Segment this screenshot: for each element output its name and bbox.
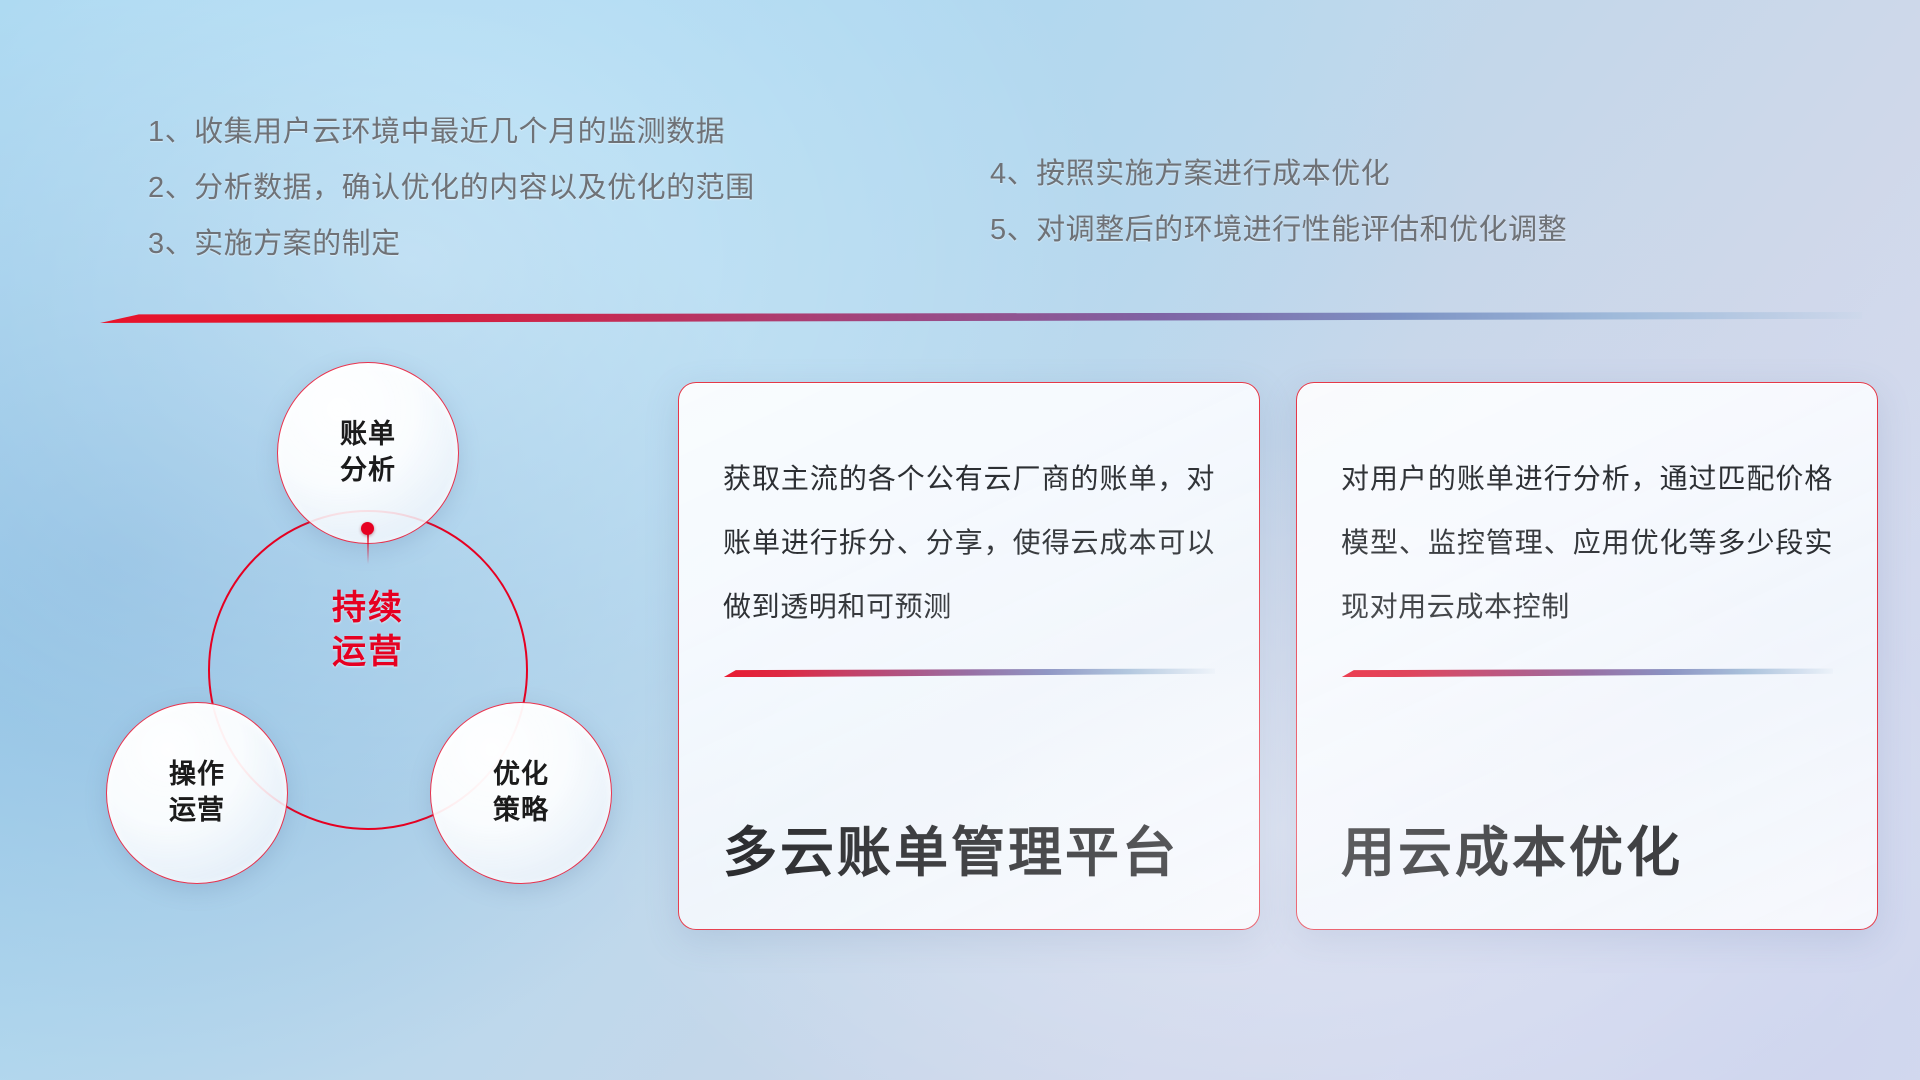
card-title: 用云成本优化 [1341, 824, 1833, 929]
card-body-text: 获取主流的各个公有云厂商的账单，对账单进行拆分、分享，使得云成本可以做到透明和可… [723, 447, 1215, 638]
card-divider [723, 668, 1215, 677]
center-label-line-1: 持续 [208, 586, 528, 630]
diagram-node-stem-top [367, 534, 369, 564]
card-body-text: 对用户的账单进行分析，通过匹配价格模型、监控管理、应用优化等多少段实现对用云成本… [1341, 447, 1833, 638]
step-item-3: 3、实施方案的制定 [148, 216, 755, 272]
feature-card-multicloud-billing[interactable]: 获取主流的各个公有云厂商的账单，对账单进行拆分、分享，使得云成本可以做到透明和可… [678, 382, 1260, 930]
diagram-center-label: 持续 运营 [208, 586, 528, 674]
feature-card-cost-optimization[interactable]: 对用户的账单进行分析，通过匹配价格模型、监控管理、应用优化等多少段实现对用云成本… [1296, 382, 1878, 930]
card-divider-wedge [723, 668, 1215, 677]
diagram-bubble-optimization-strategy[interactable]: 优化 策略 [430, 702, 612, 884]
diagram-bubble-operations[interactable]: 操作 运营 [106, 702, 288, 884]
bubble-top-line-2: 分析 [340, 453, 396, 489]
cycle-diagram: 持续 运营 账单 分析 操作 运营 优化 策略 [100, 350, 660, 950]
steps-column-left: 1、收集用户云环境中最近几个月的监测数据 2、分析数据，确认优化的内容以及优化的… [148, 104, 755, 272]
card-title: 多云账单管理平台 [723, 824, 1215, 929]
step-item-5: 5、对调整后的环境进行性能评估和优化调整 [990, 202, 1567, 258]
top-divider [100, 312, 1862, 323]
bubble-bottom-left-line-1: 操作 [169, 757, 225, 793]
steps-column-right: 4、按照实施方案进行成本优化 5、对调整后的环境进行性能评估和优化调整 [990, 146, 1567, 258]
card-divider-wedge [1341, 668, 1833, 677]
step-item-4: 4、按照实施方案进行成本优化 [990, 146, 1567, 202]
slide-canvas: 1、收集用户云环境中最近几个月的监测数据 2、分析数据，确认优化的内容以及优化的… [0, 0, 1920, 1080]
step-item-2: 2、分析数据，确认优化的内容以及优化的范围 [148, 160, 755, 216]
process-steps: 1、收集用户云环境中最近几个月的监测数据 2、分析数据，确认优化的内容以及优化的… [0, 104, 1920, 284]
card-divider [1341, 668, 1833, 677]
bubble-bottom-right-line-2: 策略 [493, 793, 549, 829]
bubble-bottom-right-line-1: 优化 [493, 757, 549, 793]
diagram-bubble-bill-analysis[interactable]: 账单 分析 [277, 362, 459, 544]
bubble-bottom-left-line-2: 运营 [169, 793, 225, 829]
diagram-node-dot-top [361, 522, 374, 535]
step-item-1: 1、收集用户云环境中最近几个月的监测数据 [148, 104, 755, 160]
feature-cards: 获取主流的各个公有云厂商的账单，对账单进行拆分、分享，使得云成本可以做到透明和可… [678, 382, 1878, 930]
bubble-top-line-1: 账单 [340, 417, 396, 453]
center-label-line-2: 运营 [208, 630, 528, 674]
top-divider-wedge [100, 312, 1862, 323]
